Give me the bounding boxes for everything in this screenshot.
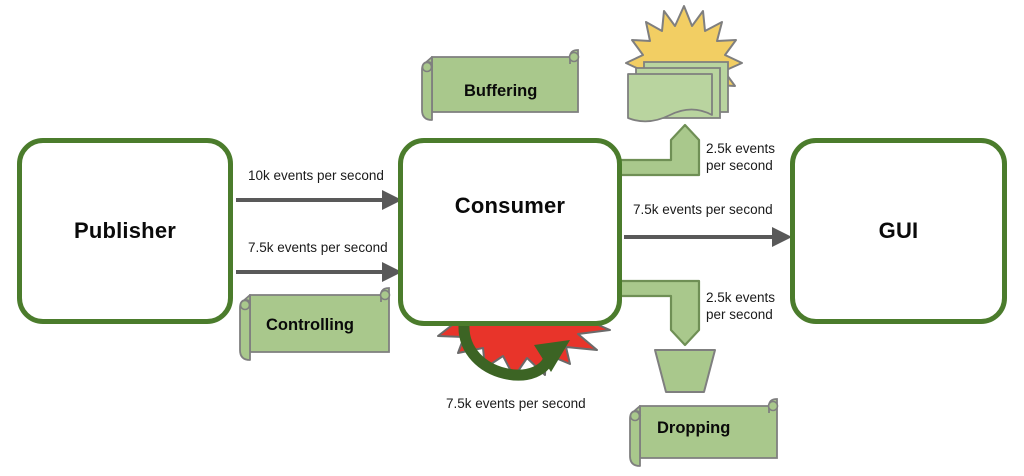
trash-funnel-icon <box>655 350 715 392</box>
flow-label-consumer-self-loop: 7.5k events per second <box>446 396 586 413</box>
star-burst-icon <box>626 6 742 114</box>
diagram-canvas: Publisher Consumer GUI Buffering Control… <box>0 0 1024 476</box>
flow-label-publisher-to-consumer-top: 10k events per second <box>248 168 384 185</box>
node-publisher-label: Publisher <box>74 218 176 244</box>
banner-dropping-label: Dropping <box>657 419 730 438</box>
node-consumer[interactable]: Consumer <box>398 138 622 326</box>
banner-buffering-label: Buffering <box>464 82 537 101</box>
node-gui-label: GUI <box>879 218 919 244</box>
flow-label-publisher-to-consumer-bottom: 7.5k events per second <box>248 240 388 257</box>
banner-controlling-label: Controlling <box>266 316 354 335</box>
flow-label-consumer-to-trash: 2.5k events per second <box>706 290 775 324</box>
documents-stack-icon <box>626 6 742 121</box>
node-publisher[interactable]: Publisher <box>17 138 233 324</box>
node-consumer-label: Consumer <box>455 193 565 219</box>
arrow-publisher-to-consumer-bottom <box>236 262 402 282</box>
arrow-consumer-self-loop <box>464 325 570 375</box>
arrow-consumer-to-trash <box>620 281 699 345</box>
node-gui[interactable]: GUI <box>790 138 1007 324</box>
arrow-publisher-to-consumer-top <box>236 190 402 210</box>
arrow-consumer-to-gui <box>624 227 792 247</box>
flow-label-consumer-to-documents: 2.5k events per second <box>706 141 775 175</box>
flow-label-consumer-to-gui: 7.5k events per second <box>633 202 773 219</box>
arrow-consumer-to-documents <box>620 125 699 175</box>
